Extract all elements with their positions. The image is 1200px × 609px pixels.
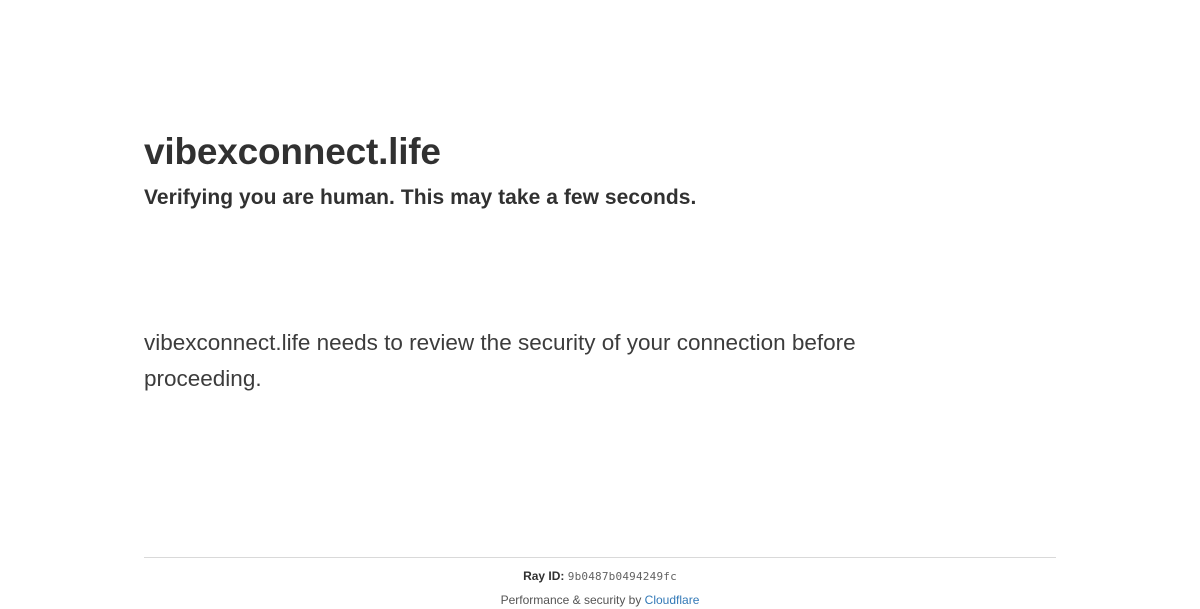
heading-block: vibexconnect.life Verifying you are huma… [144,0,1056,211]
page-title: vibexconnect.life [144,130,1056,174]
ray-id-value: 9b0487b0494249fc [568,570,677,583]
ray-id-label: Ray ID: [523,569,564,583]
turnstile-challenge-widget[interactable] [144,235,464,317]
footer-divider [144,557,1056,558]
content-column: vibexconnect.life Verifying you are huma… [144,0,1056,543]
challenge-page: vibexconnect.life Verifying you are huma… [0,0,1200,600]
ray-id-line: Ray ID: 9b0487b0494249fc [144,566,1056,587]
content-spacer [144,397,1056,543]
footer: Ray ID: 9b0487b0494249fc Performance & s… [144,566,1056,609]
footer-credit-line: Performance & security by Cloudflare [144,591,1056,609]
footer-credit-prefix: Performance & security by [501,593,645,607]
verification-status-text: Verifying you are human. This may take a… [144,184,1056,211]
security-review-message: vibexconnect.life needs to review the se… [144,317,944,397]
cloudflare-link[interactable]: Cloudflare [645,593,700,607]
